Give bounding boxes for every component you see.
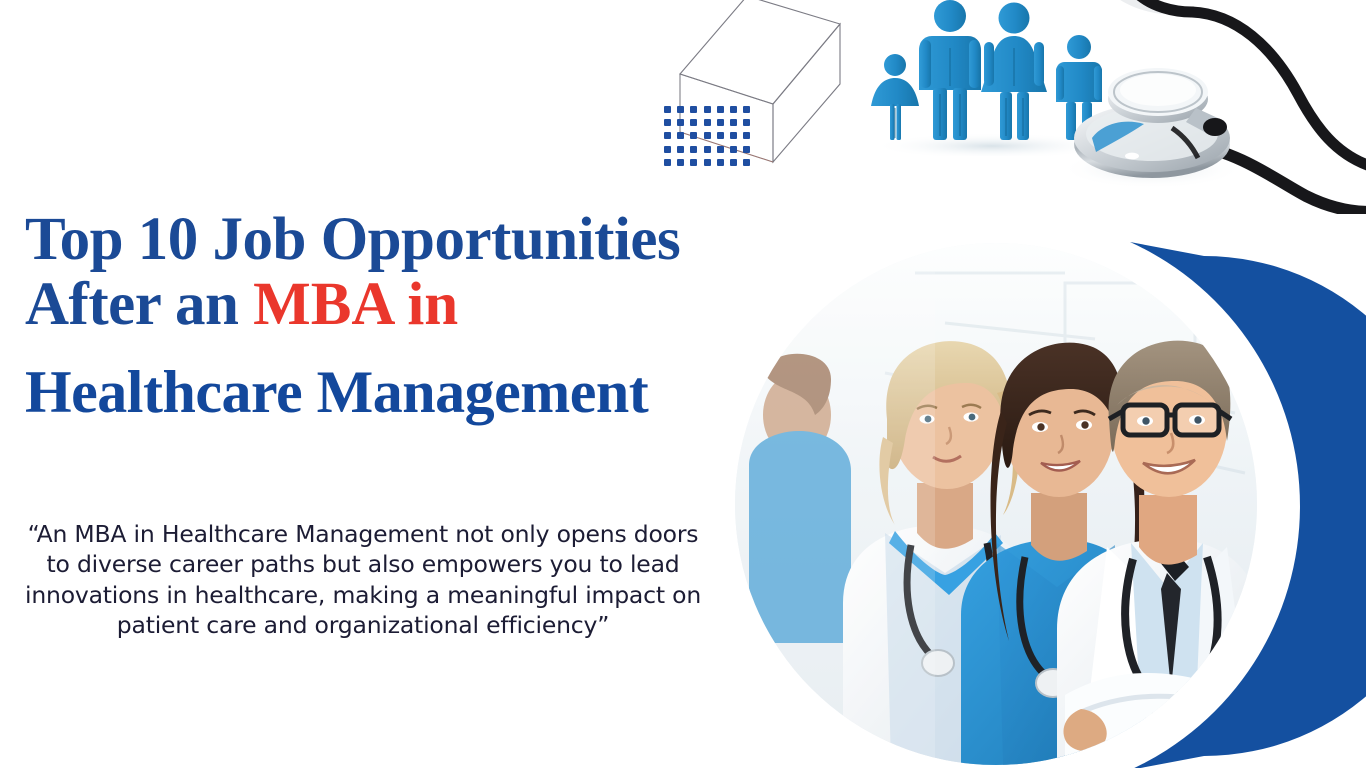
headline-line-2-prefix: After an — [25, 271, 253, 338]
quote-text: “An MBA in Healthcare Management not onl… — [18, 519, 708, 641]
people-family-pictogram-icon — [862, 0, 1124, 156]
page-title: Top 10 Job Opportunities After an MBA in… — [25, 209, 925, 423]
headline-line-3: Healthcare Management — [25, 362, 925, 423]
slide-canvas: Top 10 Job Opportunities After an MBA in… — [0, 0, 1366, 768]
dot-grid-icon — [664, 106, 756, 170]
stethoscope-icon — [1040, 0, 1366, 214]
headline-line-1: Top 10 Job Opportunities — [25, 209, 925, 271]
headline-emphasis: MBA in — [253, 271, 458, 338]
headline-line-2: After an MBA in — [25, 274, 925, 336]
